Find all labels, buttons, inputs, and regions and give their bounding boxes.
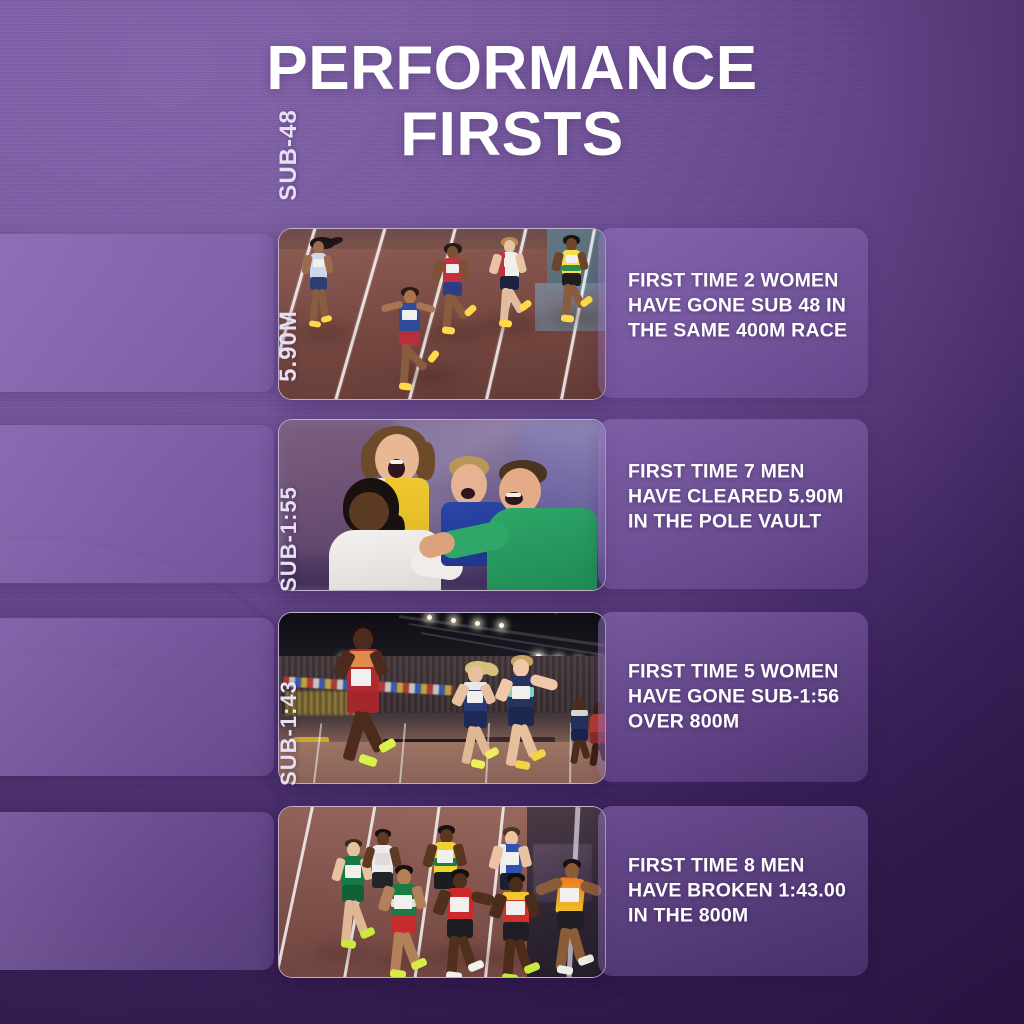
stat-row-4: SUB-1:43 (0, 806, 1024, 976)
caption-panel-4: FIRST TIME 8 MEN HAVE BROKEN 1:43.00 IN … (598, 806, 868, 976)
caption-text-1: FIRST TIME 2 WOMEN HAVE GONE SUB 48 IN T… (628, 268, 850, 343)
caption-panel-2: FIRST TIME 7 MEN HAVE CLEARED 5.90M IN T… (598, 419, 868, 589)
row-label-4: SUB-1:43 (210, 654, 368, 812)
row-label-1: SUB-48 (210, 76, 368, 234)
caption-text-3: FIRST TIME 5 WOMEN HAVE GONE SUB-1:56 OV… (628, 659, 850, 734)
caption-panel-1: FIRST TIME 2 WOMEN HAVE GONE SUB 48 IN T… (598, 228, 868, 398)
caption-text-4: FIRST TIME 8 MEN HAVE BROKEN 1:43.00 IN … (628, 853, 850, 928)
caption-panel-3: FIRST TIME 5 WOMEN HAVE GONE SUB-1:56 OV… (598, 612, 868, 782)
stat-row-1: SUB-48 (0, 228, 1024, 398)
row-label-3: SUB-1:55 (210, 460, 368, 618)
caption-text-2: FIRST TIME 7 MEN HAVE CLEARED 5.90M IN T… (628, 459, 850, 534)
row-label-tab-4: SUB-1:43 (0, 812, 274, 970)
page-title: PERFORMANCE FIRSTS (0, 36, 1024, 167)
stat-row-3: SUB-1:55 (0, 612, 1024, 782)
stat-row-2: 5.90M (0, 419, 1024, 589)
row-label-2: 5.90M (210, 267, 368, 425)
photo-card-4 (278, 806, 606, 978)
page-title-line-2: FIRSTS (0, 102, 1024, 168)
photo-800m-men-finish (279, 807, 605, 977)
infographic-canvas: PERFORMANCE FIRSTS SUB-48 (0, 0, 1024, 1024)
